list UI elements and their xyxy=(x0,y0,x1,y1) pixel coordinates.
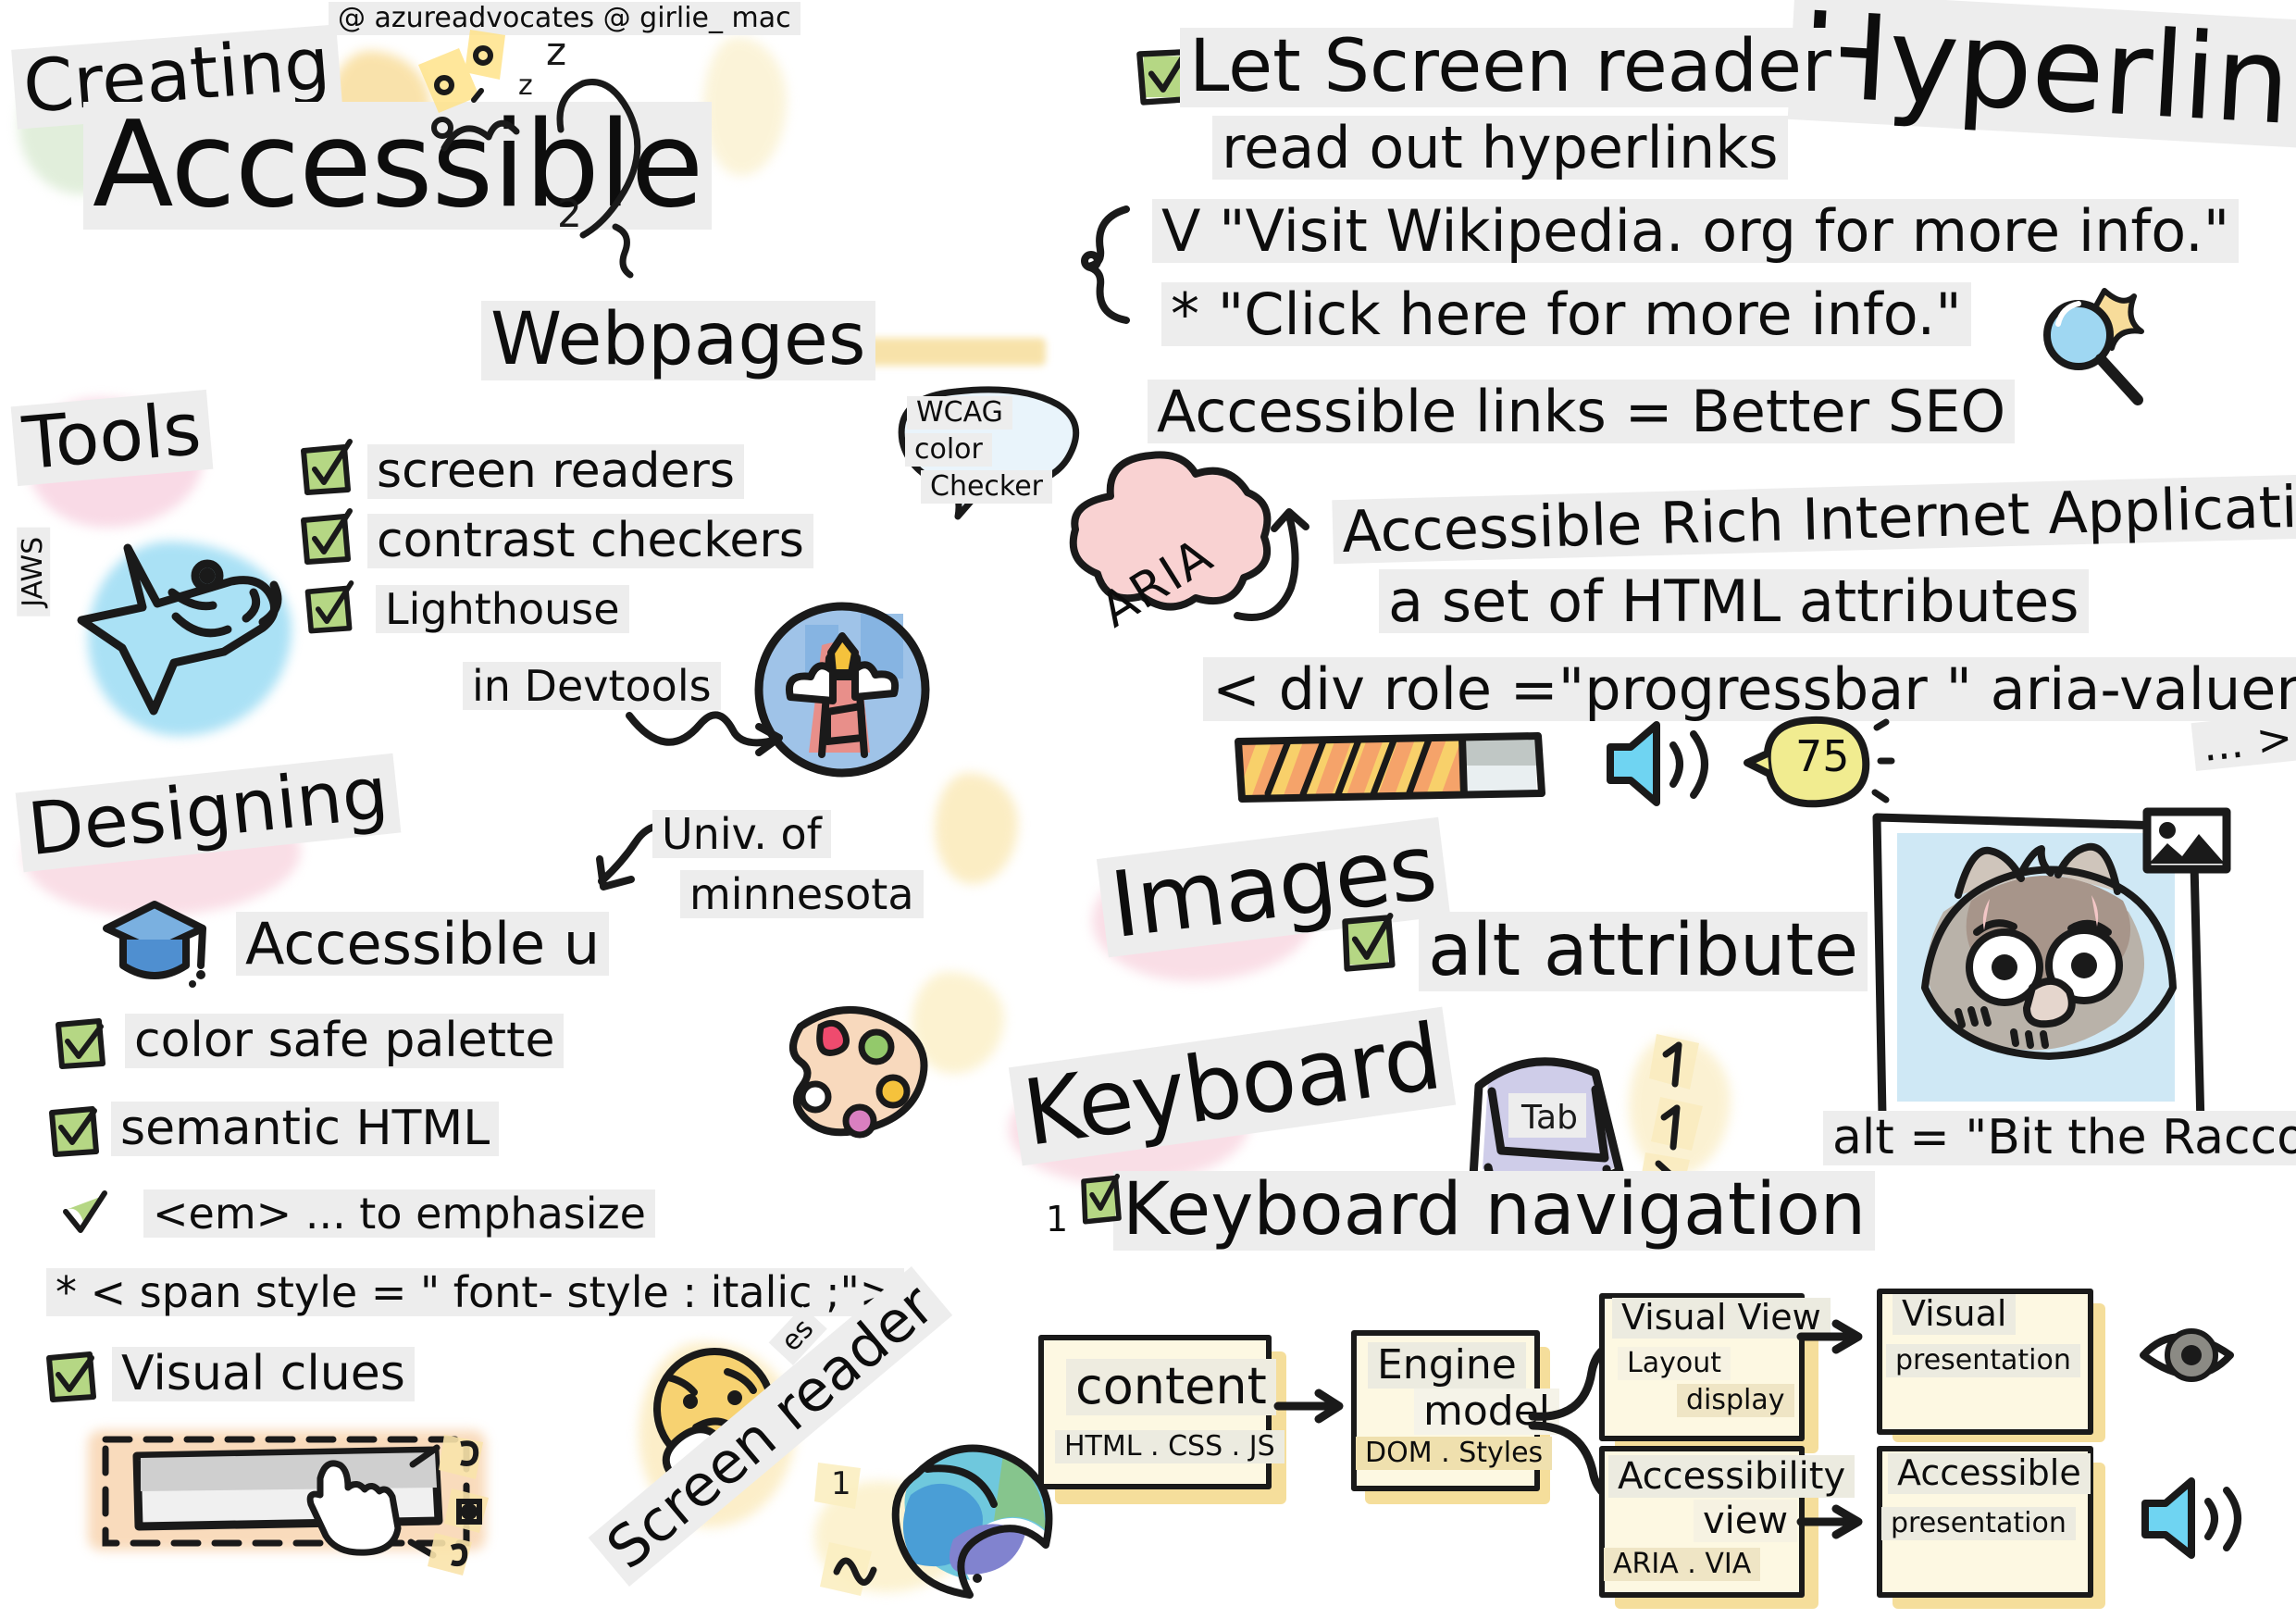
hyperlinks-heading: Hyperlinks xyxy=(1788,0,2296,155)
tools-item-1[interactable]: contrast checkers xyxy=(310,514,813,568)
checkbox-checked-icon xyxy=(42,1347,103,1408)
hyperlinks-line2: read out hyperlinks xyxy=(1212,116,1788,180)
aria-code: < div role ="progressbar " aria-valuenow… xyxy=(1203,657,2296,721)
pipeline-node-engine-foot: DOM . Styles xyxy=(1356,1437,1552,1470)
speaker-icon xyxy=(2138,1472,2249,1564)
pipeline-node-accessibility-view-foot: ARIA . VIA xyxy=(1604,1548,1760,1581)
sleeping-shark-doodle: z z 2 xyxy=(416,28,657,333)
aria-subtitle: a set of HTML attributes xyxy=(1379,569,2089,633)
checkbox-checked-icon xyxy=(296,440,357,501)
wash-yellow-sticky-b xyxy=(703,37,787,176)
pipeline-node-content-title: content xyxy=(1066,1359,1276,1415)
palette-icon xyxy=(763,995,935,1157)
tab-arrow-doodles xyxy=(1638,1032,1740,1189)
edge-sparkles: 1 xyxy=(814,1453,925,1601)
aria-code-tail: ... > xyxy=(2191,712,2296,771)
curly-brace-icon xyxy=(1069,204,1152,324)
jaws-label: JAWS xyxy=(17,528,50,616)
checkbox-checked-icon xyxy=(51,1014,112,1075)
svg-text:z: z xyxy=(546,29,566,74)
check-icon xyxy=(60,1191,112,1243)
pipeline-node-accessibility-view-sub: view xyxy=(1694,1500,1797,1542)
speaker-icon xyxy=(1601,717,1721,810)
keyboard-nav-item[interactable]: 1 Keyboard navigation xyxy=(1060,1171,1875,1251)
devtools-arrow-icon xyxy=(620,699,796,782)
progressbar-illustration xyxy=(1231,727,1564,810)
designing-item-2[interactable]: <em> ... to emphasize xyxy=(65,1189,655,1238)
checkbox-checked-icon xyxy=(301,581,358,639)
designing-item-0[interactable]: color safe palette xyxy=(60,1014,564,1068)
wcag-bubble-line1: WCAG xyxy=(907,396,1012,430)
univ-line1: Univ. of xyxy=(652,810,831,858)
pipeline-node-accessible-presentation-title: Accessible xyxy=(1888,1453,2091,1494)
pipeline-node-visual-presentation-title: Visual xyxy=(1893,1294,2016,1335)
pipeline-node-visual-presentation-sub: presentation xyxy=(1886,1344,2080,1377)
pipeline-node-content-foot: HTML . CSS . JS xyxy=(1055,1430,1285,1463)
wash-yellow-confetti-1 xyxy=(935,773,1018,884)
wcag-bubble-line3: Checker xyxy=(921,470,1052,504)
shark-icon xyxy=(65,528,305,731)
search-magnifier-icon xyxy=(2036,287,2156,417)
progress-value-text: 75 xyxy=(1795,731,1850,781)
hyperlinks-line1: Let Screen reader xyxy=(1180,28,1841,107)
sparkle-doodles-visualclues xyxy=(407,1433,527,1572)
tools-heading: Tools xyxy=(11,390,214,486)
tools-item-0[interactable]: screen readers xyxy=(310,444,744,499)
hyperlinks-good-example: V "Visit Wikipedia. org for more info." xyxy=(1152,199,2239,263)
wcag-bubble-line2: color xyxy=(905,433,992,467)
checkbox-checked-icon xyxy=(296,509,357,570)
designing-item-4[interactable]: Visual clues xyxy=(51,1347,415,1401)
images-alt-item[interactable]: alt attribute xyxy=(1347,912,1868,991)
svg-text:2: 2 xyxy=(557,191,582,236)
raccoon-image-frame xyxy=(1869,791,2240,1152)
pipeline-node-accessibility-view-title: Accessibility xyxy=(1608,1455,1855,1498)
images-alt-value: alt = "Bit the Raccoon" xyxy=(1823,1111,2296,1165)
aria-pointer-arrow xyxy=(1217,504,1337,625)
accessible-u-label: Accessible u xyxy=(236,912,609,976)
tools-item-2[interactable]: Lighthouse xyxy=(315,585,629,633)
checkbox-checked-icon xyxy=(1074,1173,1129,1228)
pipeline-node-engine-title: Engine xyxy=(1368,1342,1526,1389)
graduation-cap-icon xyxy=(97,893,213,995)
aria-expansion: Accessible Rich Internet Applications xyxy=(1332,472,2296,564)
hyperlinks-bad-example: * "Click here for more info." xyxy=(1161,282,1971,346)
checkbox-checked-icon xyxy=(44,1102,105,1163)
pipeline-node-accessible-presentation-sub: presentation xyxy=(1881,1507,2076,1540)
hyperlinks-seo: Accessible links = Better SEO xyxy=(1148,380,2015,443)
pipeline-node-visual-view-sub: Layout xyxy=(1618,1347,1731,1380)
tab-key-label: Tab xyxy=(1520,1099,1578,1137)
keyboard-nav-number: 1 xyxy=(1046,1199,1068,1239)
arrow-content-to-engine xyxy=(1272,1384,1356,1430)
arrow-a11yview-to-accessible xyxy=(1795,1500,1874,1546)
arrow-visualview-to-visual xyxy=(1795,1314,1874,1361)
checkbox-checked-icon xyxy=(1337,912,1402,977)
designing-item-3: * < span style = " font- style : italic … xyxy=(46,1268,904,1316)
univ-line2: minnesota xyxy=(680,870,924,918)
designing-item-1[interactable]: semantic HTML xyxy=(54,1102,499,1156)
eye-icon xyxy=(2138,1314,2240,1398)
pipeline-node-visual-view-sub2: display xyxy=(1677,1384,1794,1417)
svg-text:1: 1 xyxy=(831,1465,851,1502)
svg-text:z: z xyxy=(518,69,533,102)
